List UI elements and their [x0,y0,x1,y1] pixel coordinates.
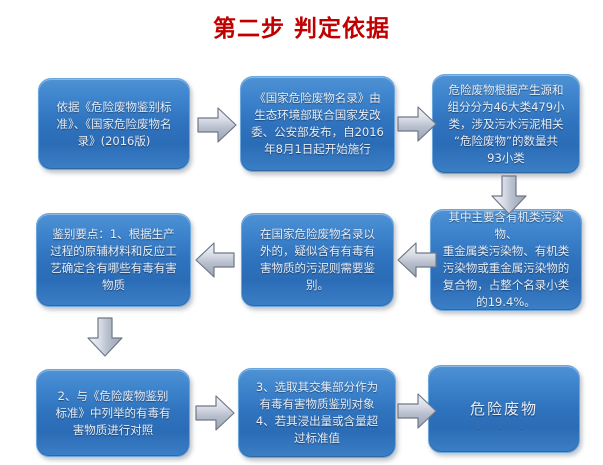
node-text: 2、与《危险废物鉴别标准》中列举的有毒有害物质进行对照 [46,388,180,439]
node-text-line: 在国家危险废物名录以 [251,226,384,243]
node-text-line: 录》(2016版) [48,133,180,150]
watermark-text: · · · [429,421,579,438]
step-identification-point-2[interactable]: 2、与《危险废物鉴别标准》中列举的有毒有害物质进行对照 [36,369,190,457]
node-text-line: 委、公安部发布，自2016 [250,124,385,141]
node-text-line: 鉴别要点：1、根据生产 [46,226,181,243]
step-basis-standards[interactable]: 依据《危险废物鉴别标准》、《国家危险废物名录》(2016版) [38,78,190,170]
step-identification-point-3-4[interactable]: 3、选取其交集部分作为有毒有害物质鉴别对象4、若其浸出量或含量超过标准值 [238,368,396,458]
node-text-line: 外的，疑似含有有毒有 [251,243,384,260]
node-text-line: 有毒有害物质鉴别对象 [248,396,386,413]
node-text-line: 依据《危险废物鉴别标 [48,99,180,116]
node-text-line: 危险废物 [438,401,570,418]
arrow-right-icon [196,104,238,146]
step-identification-point-1[interactable]: 鉴别要点：1、根据生产过程的原辅材料和反应工艺确定含有哪些有毒有害物质 [36,213,191,307]
arrow-left-icon [396,239,438,281]
node-text: 危险废物根据产生源和组分分为46大类479小类，涉及污水污泥相关“危险废物”的数… [442,82,570,167]
arrow-right-icon [396,390,438,432]
step-outside-catalog-identification[interactable]: 在国家危险废物名录以外的，疑似含有有毒有害物质的污泥则需要鉴别。 [241,213,394,307]
node-text-line: 别。 [251,277,384,294]
node-text: 危险废物 [438,401,570,418]
node-text-line: 害物质的污泥则需要鉴 [251,260,384,277]
arrow-right-icon [194,392,236,434]
node-text-line: 复合物，占整个名录小类 [440,277,572,294]
node-text-line: 过标准值 [248,430,386,447]
node-text: 鉴别要点：1、根据生产过程的原辅材料和反应工艺确定含有哪些有毒有害物质 [46,226,181,294]
node-text-line: 3、选取其交集部分作为 [248,379,386,396]
node-text-line: 组分分为46大类479小 [442,99,570,116]
node-text: 依据《危险废物鉴别标准》、《国家危险废物名录》(2016版) [48,99,180,150]
node-text: 《国家危险废物名录》由生态环境部联合国家发改委、公安部发布，自2016年8月1日… [250,90,385,158]
node-text-line: 标准》中列举的有毒有 [46,405,180,422]
node-text-line: 物质 [46,277,181,294]
arrow-down-icon [488,174,530,216]
node-text: 3、选取其交集部分作为有毒有害物质鉴别对象4、若其浸出量或含量超过标准值 [248,379,386,447]
node-text-line: 《国家危险废物名录》由 [250,90,385,107]
node-text-line: 准》、《国家危险废物名 [48,116,180,133]
page-title: 第二步 判定依据 [0,14,603,44]
node-text-line: 4、若其浸出量或含量超 [248,413,386,430]
arrow-right-icon [396,103,438,145]
node-text-line: 危险废物根据产生源和 [442,82,570,99]
node-text-line: 年8月1日起开始施行 [250,141,385,158]
node-text-line: 害物质进行对照 [46,422,180,439]
node-text-line: 污染物或重金属污染物的 [440,260,572,277]
node-text-line: 的19.4%。 [440,294,572,311]
node-text-line: 艺确定含有哪些有毒有害 [46,260,181,277]
node-text-line: 类，涉及污水污泥相关 [442,116,570,133]
node-text-line: “危险废物”的数量共 [442,133,570,150]
flowchart-canvas: 第二步 判定依据 依据《危险废物鉴别标准》、《国家危险废物名录》(2016版) … [0,0,603,465]
step-pollutant-composition[interactable]: 其中主要含有机类污染物、重金属类污染物、有机类污染物或重金属污染物的复合物，占整… [430,209,582,311]
node-text: 在国家危险废物名录以外的，疑似含有有毒有害物质的污泥则需要鉴别。 [251,226,384,294]
node-text-line: 2、与《危险废物鉴别 [46,388,180,405]
result-hazardous-waste[interactable]: 危险废物 · · · [428,365,580,453]
node-text-line: 93小类 [442,150,570,167]
arrow-down-icon [84,316,126,358]
node-text-line: 生态环境部联合国家发改 [250,107,385,124]
step-classification-counts[interactable]: 危险废物根据产生源和组分分为46大类479小类，涉及污水污泥相关“危险废物”的数… [432,74,580,174]
step-catalog-issuance[interactable]: 《国家危险废物名录》由生态环境部联合国家发改委、公安部发布，自2016年8月1日… [240,76,395,172]
node-text: 其中主要含有机类污染物、重金属类污染物、有机类污染物或重金属污染物的复合物，占整… [440,209,572,311]
node-text-line: 重金属类污染物、有机类 [440,243,572,260]
node-text-line: 过程的原辅材料和反应工 [46,243,181,260]
arrow-left-icon [194,239,236,281]
